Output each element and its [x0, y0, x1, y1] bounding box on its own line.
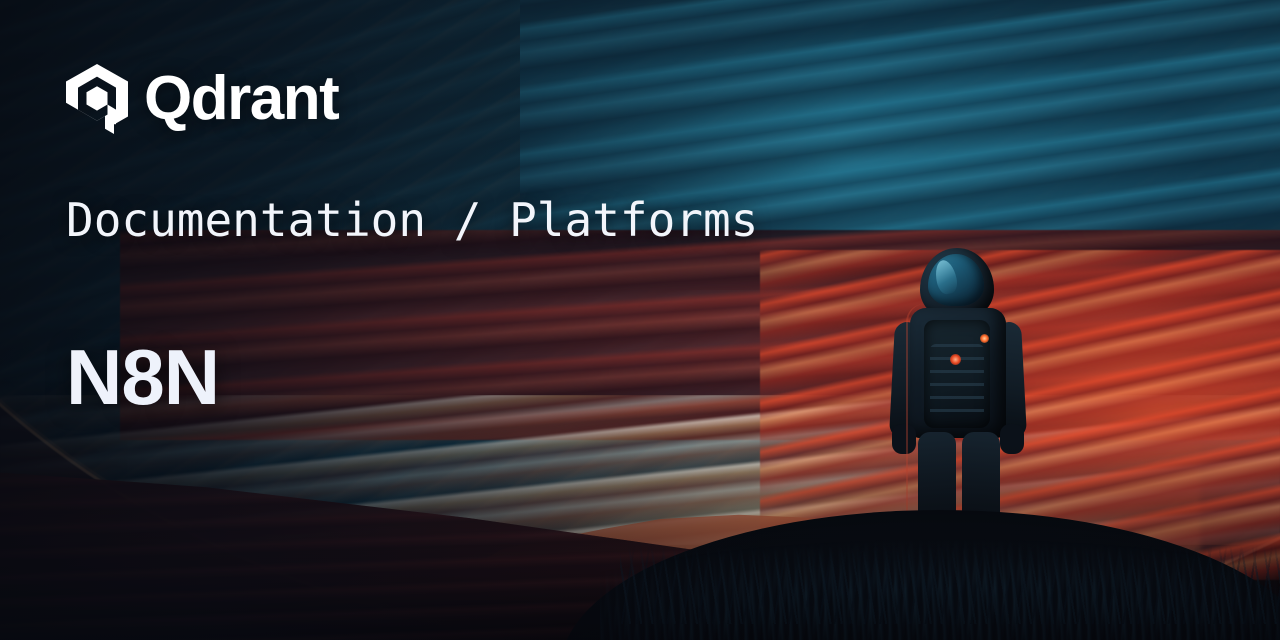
qdrant-wordmark: Qdrant [144, 68, 338, 130]
qdrant-hexagon-logo-icon [66, 64, 128, 134]
page-title: N8N [66, 338, 219, 416]
banner-content: Qdrant Documentation / Platforms N8N [0, 0, 1280, 640]
breadcrumb[interactable]: Documentation / Platforms [66, 196, 758, 244]
page-banner: Qdrant Documentation / Platforms N8N [0, 0, 1280, 640]
qdrant-logo[interactable]: Qdrant [66, 64, 338, 134]
